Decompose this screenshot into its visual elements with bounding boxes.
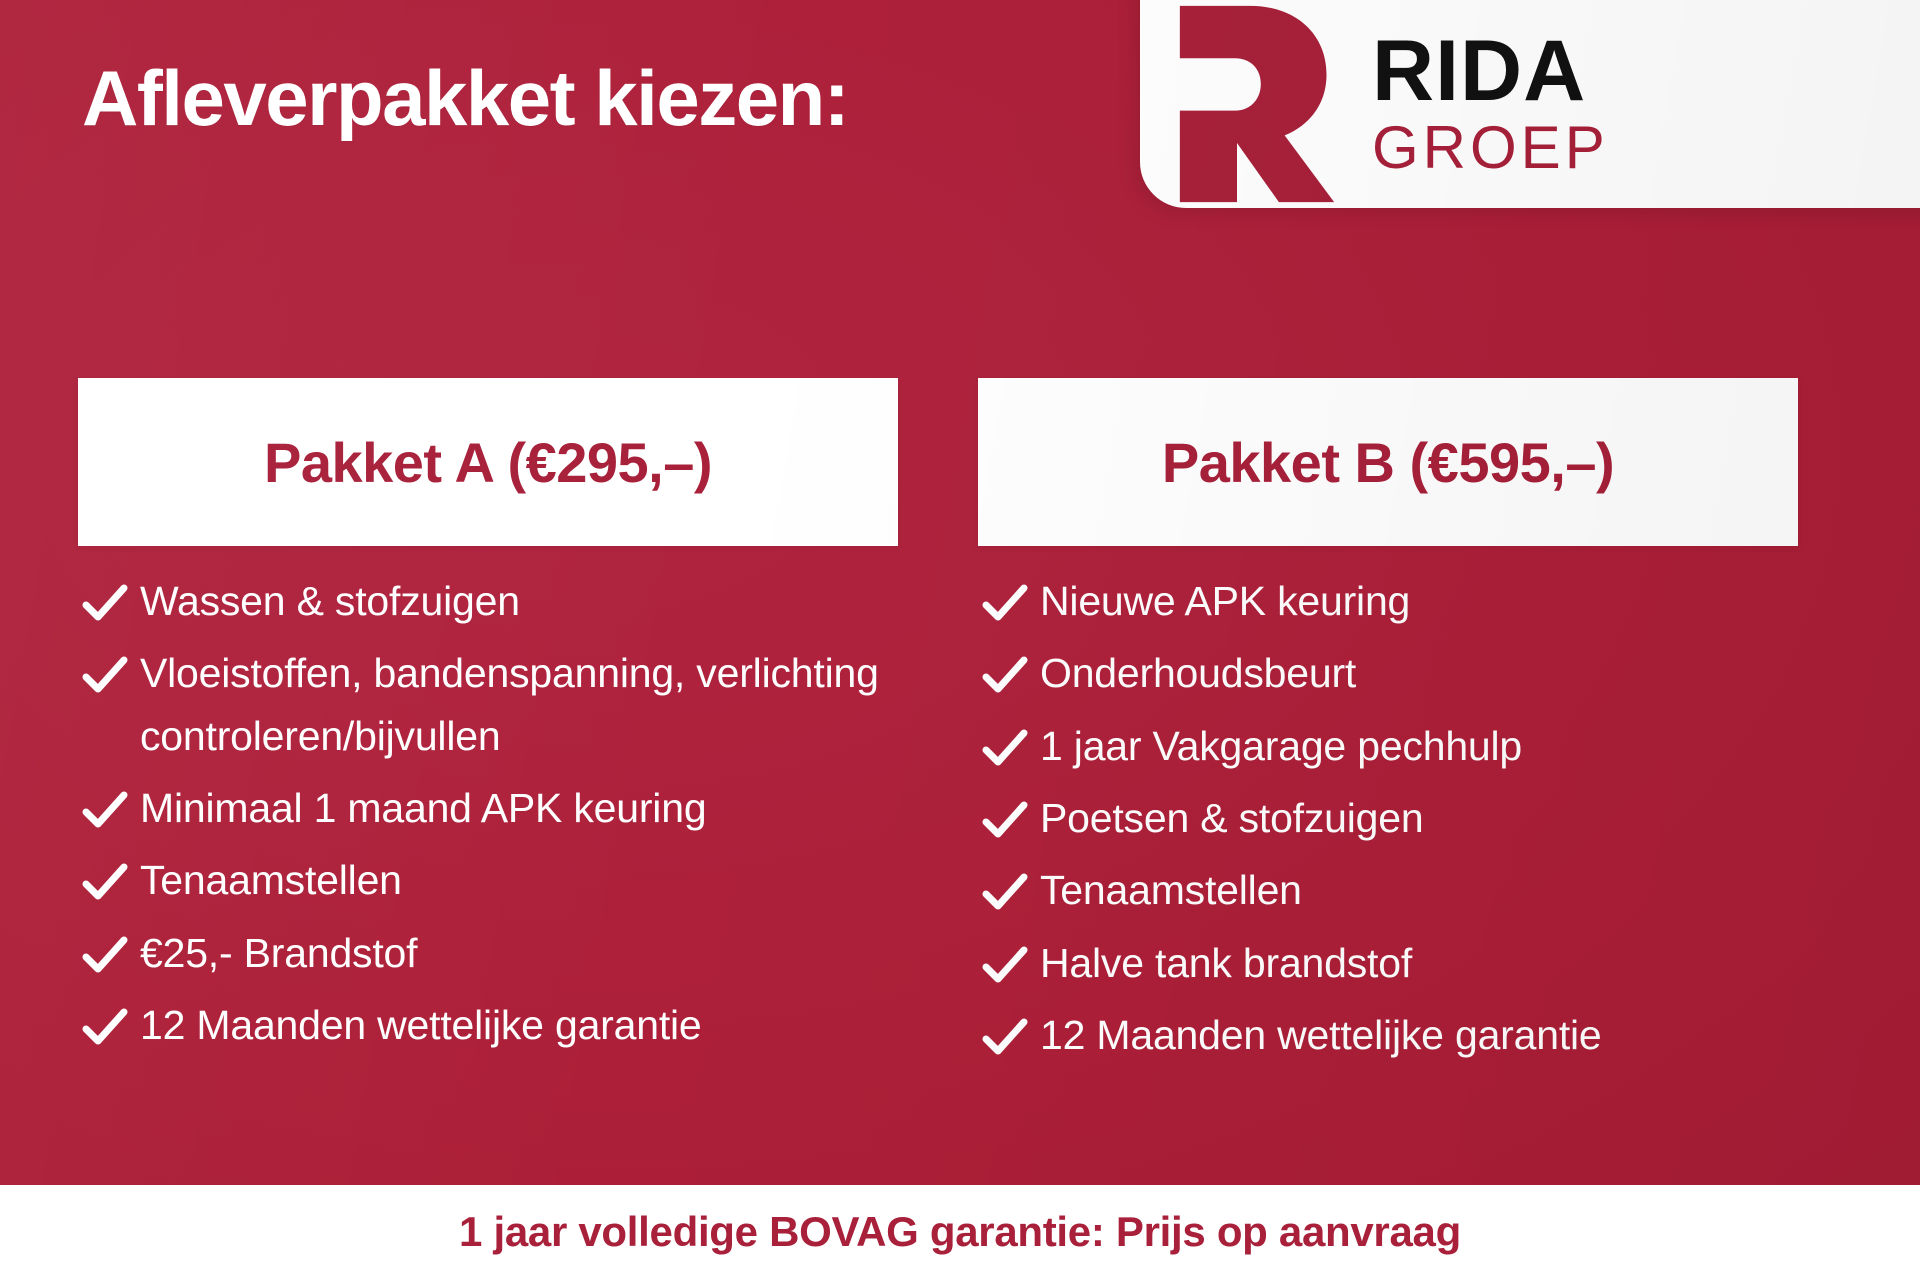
package-a-title: Pakket A (€295,–) <box>264 430 712 495</box>
list-item-label: Vloeistoffen, bandenspanning, verlichtin… <box>140 642 880 767</box>
check-icon <box>78 579 132 627</box>
package-b-title: Pakket B (€595,–) <box>1162 430 1614 495</box>
check-icon <box>978 868 1032 916</box>
check-icon <box>978 1013 1032 1061</box>
list-item: Wassen & stofzuigen <box>78 570 898 632</box>
list-item: €25,- Brandstof <box>78 922 898 984</box>
check-icon <box>978 651 1032 699</box>
page-title: Afleverpakket kiezen: <box>82 58 848 140</box>
list-item: Onderhoudsbeurt <box>978 642 1798 704</box>
list-item: Tenaamstellen <box>78 849 898 911</box>
package-card-b[interactable]: Pakket B (€595,–) Nieuwe APK keuring <box>978 378 1798 1076</box>
logo-wordmark: RIDA GROEP <box>1372 28 1609 178</box>
package-a-feature-list: Wassen & stofzuigen Vloeistoffen, banden… <box>78 570 898 1056</box>
footer-guarantee-text: 1 jaar volledige BOVAG garantie: Prijs o… <box>459 1208 1461 1256</box>
check-icon <box>978 941 1032 989</box>
rida-r-monogram-icon <box>1168 4 1346 204</box>
logo-card: RIDA GROEP <box>1140 0 1920 208</box>
check-icon <box>978 796 1032 844</box>
check-icon <box>78 651 132 699</box>
logo-brand-suffix: GROEP <box>1372 118 1609 178</box>
header: Afleverpakket kiezen: RIDA GROEP <box>0 0 1920 215</box>
package-b-header: Pakket B (€595,–) <box>978 378 1798 546</box>
check-icon <box>978 724 1032 772</box>
footer-bar: 1 jaar volledige BOVAG garantie: Prijs o… <box>0 1185 1920 1279</box>
check-icon <box>78 786 132 834</box>
list-item: Minimaal 1 maand APK keuring <box>78 777 898 839</box>
list-item-label: Onderhoudsbeurt <box>1040 642 1780 704</box>
list-item-label: Tenaamstellen <box>140 849 880 911</box>
package-comparison: Pakket A (€295,–) Wassen & stofzuigen <box>0 378 1920 1076</box>
list-item: 12 Maanden wettelijke garantie <box>978 1004 1798 1066</box>
list-item-label: 12 Maanden wettelijke garantie <box>140 994 880 1056</box>
package-b-feature-list: Nieuwe APK keuring Onderhoudsbeurt <box>978 570 1798 1066</box>
list-item-label: Poetsen & stofzuigen <box>1040 787 1780 849</box>
list-item: Poetsen & stofzuigen <box>978 787 1798 849</box>
list-item-label: 12 Maanden wettelijke garantie <box>1040 1004 1780 1066</box>
package-a-header: Pakket A (€295,–) <box>78 378 898 546</box>
check-icon <box>78 858 132 906</box>
list-item-label: Wassen & stofzuigen <box>140 570 880 632</box>
list-item-label: Nieuwe APK keuring <box>1040 570 1780 632</box>
logo-brand-name: RIDA <box>1372 28 1609 114</box>
list-item: Vloeistoffen, bandenspanning, verlichtin… <box>78 642 898 767</box>
list-item: Tenaamstellen <box>978 859 1798 921</box>
check-icon <box>78 1003 132 1051</box>
list-item: 12 Maanden wettelijke garantie <box>78 994 898 1056</box>
list-item: 1 jaar Vakgarage pechhulp <box>978 715 1798 777</box>
poster-canvas: Afleverpakket kiezen: RIDA GROEP Pakket … <box>0 0 1920 1279</box>
check-icon <box>78 931 132 979</box>
list-item-label: Tenaamstellen <box>1040 859 1780 921</box>
list-item-label: Halve tank brandstof <box>1040 932 1780 994</box>
list-item: Nieuwe APK keuring <box>978 570 1798 632</box>
list-item: Halve tank brandstof <box>978 932 1798 994</box>
package-card-a[interactable]: Pakket A (€295,–) Wassen & stofzuigen <box>78 378 898 1076</box>
list-item-label: Minimaal 1 maand APK keuring <box>140 777 880 839</box>
list-item-label: €25,- Brandstof <box>140 922 880 984</box>
check-icon <box>978 579 1032 627</box>
list-item-label: 1 jaar Vakgarage pechhulp <box>1040 715 1780 777</box>
